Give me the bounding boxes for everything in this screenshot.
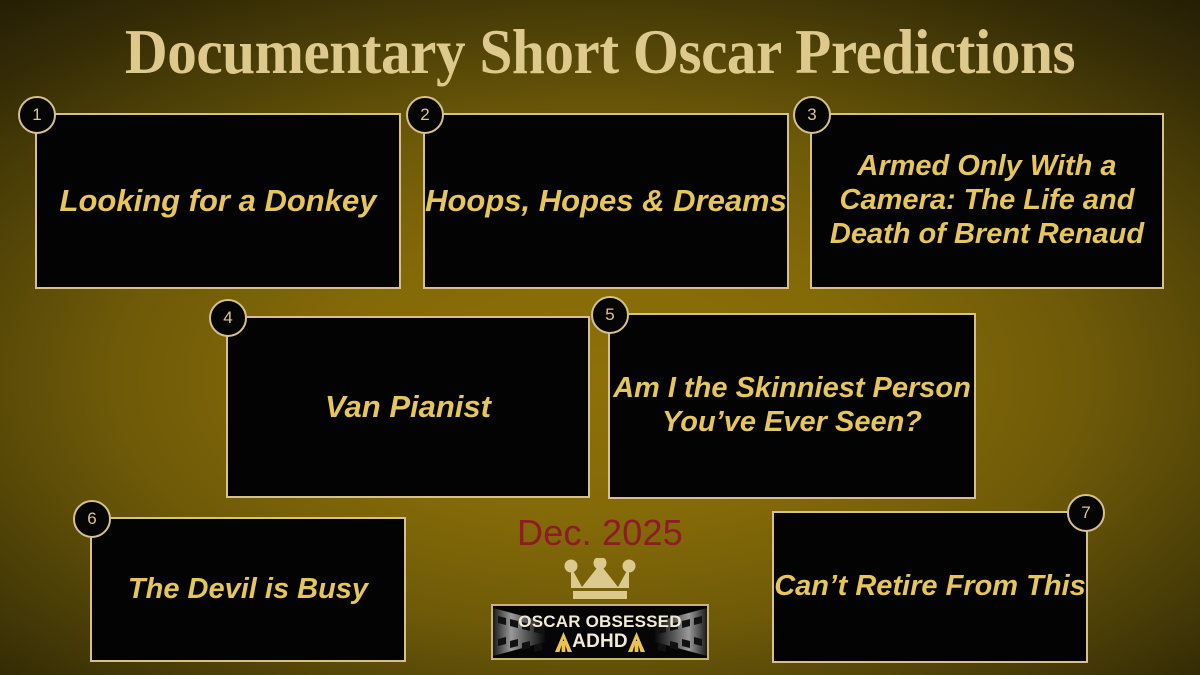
card-number-badge-1: 1 — [18, 96, 56, 134]
crown-icon — [436, 558, 764, 600]
card-title-7: Can’t Retire From This — [774, 570, 1086, 604]
card-title-1: Looking for a Donkey — [37, 183, 399, 219]
prediction-card-2[interactable]: 2 Hoops, Hopes & Dreams — [423, 113, 789, 289]
logo-adhd-text: ADHD — [572, 632, 628, 652]
card-number-badge-4: 4 — [209, 299, 247, 337]
card-title-3: Armed Only With a Camera: The Life and D… — [812, 150, 1162, 252]
card-number-badge-3: 3 — [793, 96, 831, 134]
card-number-badge-6: 6 — [73, 500, 111, 538]
card-title-5: Am I the Skinniest Person You’ve Ever Se… — [610, 372, 974, 440]
card-number-badge-2: 2 — [406, 96, 444, 134]
card-title-6: The Devil is Busy — [92, 573, 404, 607]
prediction-card-7[interactable]: 7 Can’t Retire From This — [772, 511, 1088, 663]
prediction-card-5[interactable]: 5 Am I the Skinniest Person You’ve Ever … — [608, 313, 976, 499]
card-title-2: Hoops, Hopes & Dreams — [425, 183, 787, 219]
prediction-card-3[interactable]: 3 Armed Only With a Camera: The Life and… — [810, 113, 1164, 289]
branding-block: Dec. 2025 — [436, 512, 764, 660]
channel-logo[interactable]: OSCAR OBSESSED ADHD — [491, 604, 709, 660]
card-number-badge-5: 5 — [591, 296, 629, 334]
oscar-a-triangle-icon — [555, 632, 572, 652]
logo-text-block: OSCAR OBSESSED ADHD — [493, 606, 707, 658]
oscar-a-triangle-icon — [628, 632, 645, 652]
logo-secondary-line: ADHD — [555, 632, 645, 652]
prediction-card-1[interactable]: 1 Looking for a Donkey — [35, 113, 401, 289]
date-label: Dec. 2025 — [436, 512, 764, 554]
slide-canvas: Documentary Short Oscar Predictions 1 Lo… — [0, 0, 1200, 675]
page-title: Documentary Short Oscar Predictions — [36, 14, 1164, 90]
logo-primary-text: OSCAR OBSESSED — [518, 612, 681, 631]
card-number-badge-7: 7 — [1067, 494, 1105, 532]
card-title-4: Van Pianist — [228, 389, 588, 425]
prediction-card-6[interactable]: 6 The Devil is Busy — [90, 517, 406, 662]
prediction-card-4[interactable]: 4 Van Pianist — [226, 316, 590, 498]
